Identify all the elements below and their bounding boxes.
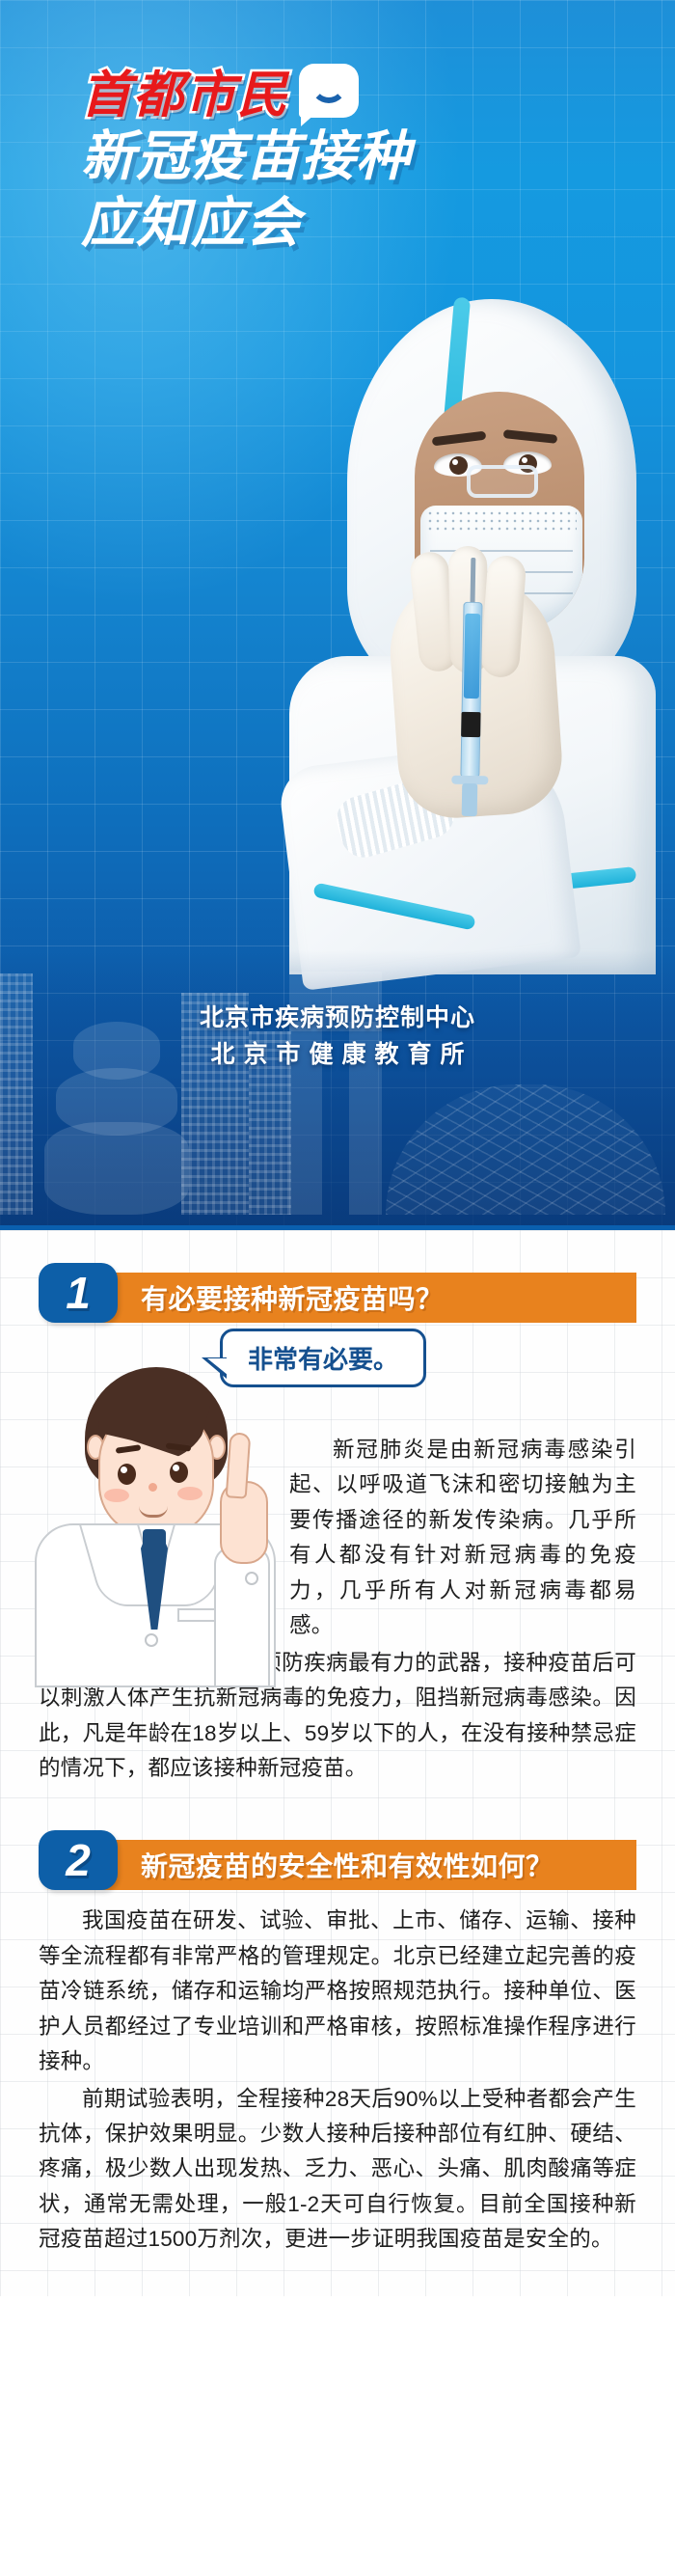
pointing-finger-icon xyxy=(226,1432,252,1498)
pupil-left xyxy=(449,456,468,475)
section-2-bar: 新冠疫苗的安全性和有效性如何？ xyxy=(96,1840,636,1890)
syringe-label xyxy=(461,712,480,737)
section-2-paragraph-1: 我国疫苗在研发、试验、审批、上市、储存、运输、接种等全流程都有非常严格的管理规定… xyxy=(39,1904,636,2079)
org-name-line1: 北京市疾病预防控制中心 xyxy=(0,1000,675,1037)
hero-banner: 首都市民 新冠疫苗接种 应知应会 xyxy=(0,0,675,1230)
eyebrow-right xyxy=(503,429,558,444)
speech-bubble-tail xyxy=(202,1357,225,1379)
section-2-number: 2 xyxy=(39,1830,118,1890)
doctor-blush-left xyxy=(104,1489,129,1502)
beijing-skyline: 北京市疾病预防控制中心 北京市健康教育所 xyxy=(0,950,675,1230)
pagoda-base xyxy=(44,1122,189,1215)
section-2-paragraph-2: 前期试验表明，全程接种28天后90%以上受种者都会产生抗体，保护效果明显。少数人… xyxy=(39,2082,636,2258)
section-1-number: 1 xyxy=(39,1263,118,1323)
section-2: 2 新冠疫苗的安全性和有效性如何？ 我国疫苗在研发、试验、审批、上市、储存、运输… xyxy=(0,1830,675,2257)
mask-pleat xyxy=(430,550,573,552)
poster-root: 首都市民 新冠疫苗接种 应知应会 xyxy=(0,0,675,2576)
hero-title-line2: 应知应会 xyxy=(81,190,621,256)
doctor-coat-button xyxy=(145,1633,158,1647)
section-2-header: 2 新冠疫苗的安全性和有效性如何？ xyxy=(0,1830,675,1890)
cartoon-doctor-icon xyxy=(35,1363,276,1682)
doctor-eye-left xyxy=(118,1464,136,1485)
medical-worker-photo xyxy=(0,289,675,965)
syringe-plunger xyxy=(462,783,478,816)
worker-figure xyxy=(270,299,656,965)
goggles-icon xyxy=(467,465,538,498)
hero-title-line1: 新冠疫苗接种 xyxy=(81,123,621,189)
section-1-bar: 有必要接种新冠疫苗吗？ xyxy=(96,1273,636,1323)
section-1: 1 有必要接种新冠疫苗吗？ xyxy=(0,1263,675,1786)
section-1-title: 有必要接种新冠疫苗吗？ xyxy=(141,1278,444,1317)
syringe-needle xyxy=(470,558,475,606)
section-1-header: 1 有必要接种新冠疫苗吗？ xyxy=(0,1263,675,1323)
org-name-line2: 北京市健康教育所 xyxy=(0,1037,675,1074)
eyebrow-left xyxy=(432,431,487,447)
doctor-nose xyxy=(148,1483,157,1492)
syringe-icon xyxy=(457,558,487,818)
speech-bubble: 非常有必要。 xyxy=(220,1329,426,1387)
section-1-paragraph-1: 新冠肺炎是由新冠病毒感染引起、以呼吸道飞沫和密切接触为主要传播途径的新发传染病。… xyxy=(289,1433,636,1644)
section-2-title: 新冠疫苗的安全性和有效性如何？ xyxy=(141,1846,553,1884)
doctor-blush-right xyxy=(177,1487,202,1500)
smile-chat-bubble-icon xyxy=(299,64,359,118)
doctor-eye-right xyxy=(170,1462,188,1483)
doctor-cuff-button xyxy=(245,1572,258,1585)
mask-texture xyxy=(426,509,577,534)
hero-title-block: 首都市民 新冠疫苗接种 应知应会 xyxy=(81,68,621,256)
syringe-liquid xyxy=(464,614,481,699)
doctor-arm xyxy=(214,1547,270,1687)
speech-bubble-text: 非常有必要。 xyxy=(248,1345,398,1374)
organization-names: 北京市疾病预防控制中心 北京市健康教育所 xyxy=(0,1000,675,1073)
content-area: 1 有必要接种新冠疫苗吗？ xyxy=(0,1230,675,2296)
hero-title-row-red: 首都市民 xyxy=(81,68,621,123)
hero-title-red: 首都市民 xyxy=(81,68,289,123)
